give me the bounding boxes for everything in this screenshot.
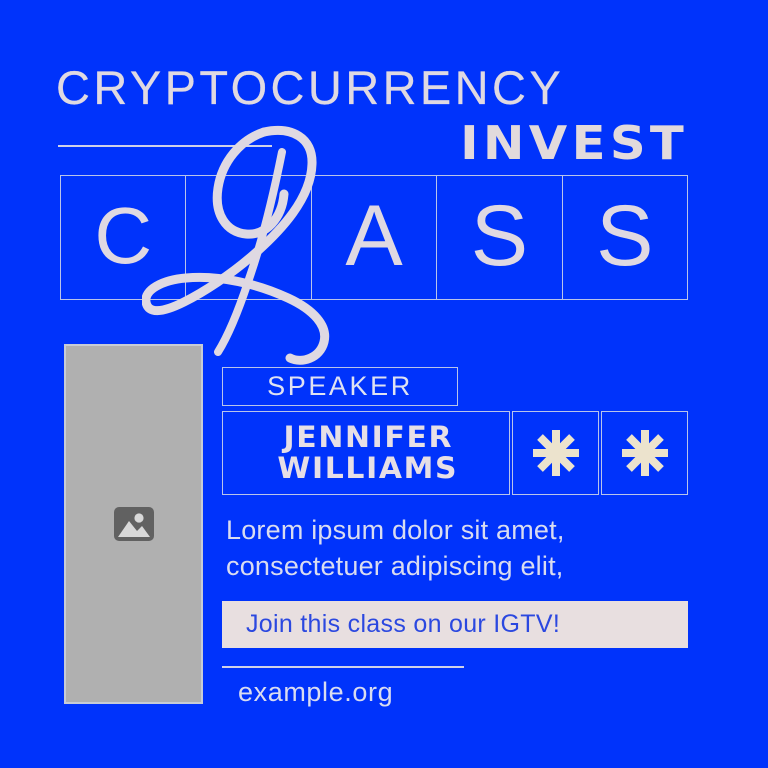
speaker-label-box: SPEAKER (222, 367, 458, 406)
speaker-name-line2: WILLIAMS (278, 453, 459, 484)
speaker-name-row: JENNIFER WILLIAMS (222, 411, 688, 495)
class-letter: C (94, 196, 152, 276)
poster-canvas: CRYPTOCURRENCY INVEST C L A S S (0, 0, 768, 768)
asterisk-box-1 (512, 411, 599, 495)
class-letter-cell: A (312, 176, 437, 299)
class-letter-cell: C (61, 176, 186, 299)
page-title-invest: INVEST (460, 120, 688, 166)
body-copy-line2: consectetuer adipiscing elit, (226, 548, 696, 584)
class-letter: S (596, 193, 653, 279)
class-letter: A (345, 193, 402, 279)
cta-banner[interactable]: Join this class on our IGTV! (222, 601, 688, 648)
cta-label: Join this class on our IGTV! (246, 612, 560, 637)
class-letter-grid: C L A S S (60, 175, 688, 300)
page-title-cryptocurrency: CRYPTOCURRENCY (56, 64, 716, 111)
speaker-name-box: JENNIFER WILLIAMS (222, 411, 510, 495)
footer-divider (222, 666, 464, 668)
headline-divider (58, 145, 272, 147)
image-placeholder-icon (112, 502, 156, 546)
body-copy: Lorem ipsum dolor sit amet, consectetuer… (226, 512, 696, 584)
asterisk-box-2 (601, 411, 688, 495)
class-letter: S (471, 193, 528, 279)
body-copy-line1: Lorem ipsum dolor sit amet, (226, 512, 696, 548)
class-letter-cell: S (437, 176, 562, 299)
class-letter-cell: L (186, 176, 311, 299)
speaker-name-line1: JENNIFER (283, 422, 453, 453)
image-placeholder[interactable] (64, 344, 203, 704)
class-letter-cell: S (563, 176, 687, 299)
asterisk-icon (619, 427, 671, 479)
asterisk-icon (530, 427, 582, 479)
footer-website-url[interactable]: example.org (238, 679, 393, 706)
speaker-label: SPEAKER (267, 373, 413, 400)
